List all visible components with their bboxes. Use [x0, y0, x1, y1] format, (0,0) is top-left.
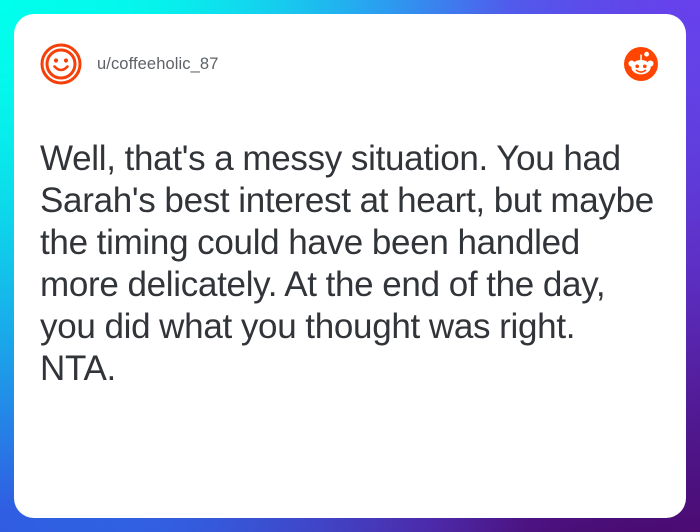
username-label: u/coffeeholic_87: [97, 55, 218, 74]
reddit-snoo-logo-icon[interactable]: [624, 47, 658, 81]
post-body-text: Well, that's a messy situation. You had …: [40, 138, 660, 390]
gradient-background: u/coffeeholic_87: [0, 0, 700, 532]
post-header: u/coffeeholic_87: [40, 40, 660, 88]
reddit-post-card: u/coffeeholic_87: [14, 14, 686, 518]
smiley-face-avatar-icon[interactable]: [40, 43, 82, 85]
